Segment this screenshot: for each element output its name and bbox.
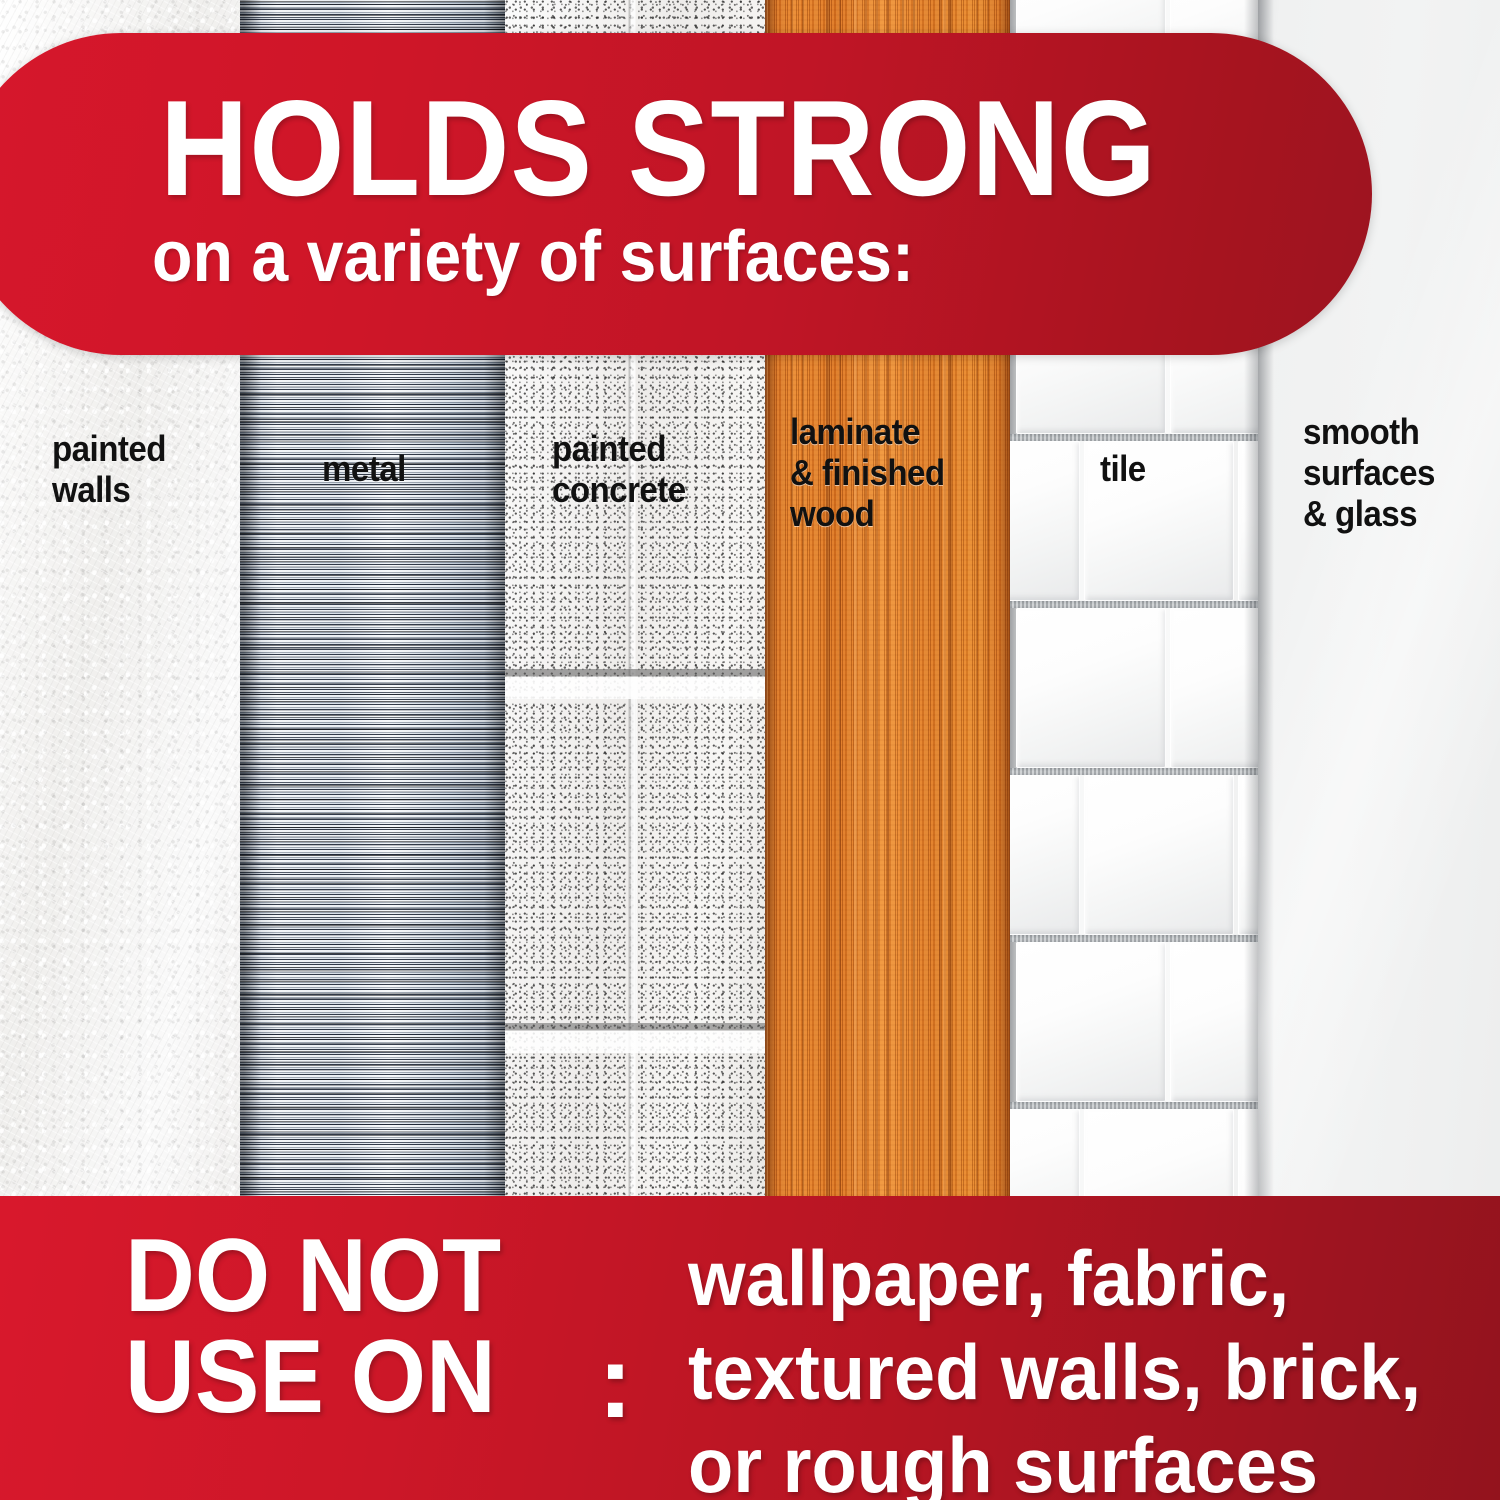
tile-piece [1016, 942, 1166, 1102]
surface-label-tile: tile [1100, 448, 1146, 489]
do-not-use-list: wallpaper, fabric, textured walls, brick… [688, 1232, 1421, 1500]
tile-piece [1084, 775, 1234, 935]
tile-grout-line [1010, 1102, 1258, 1109]
concrete-mortar-joint [630, 677, 637, 1025]
surface-label-laminate-wood: laminate & finished wood [790, 411, 945, 534]
banner-subtitle: on a variety of surfaces: [152, 221, 914, 293]
surface-label-painted-concrete: painted concrete [552, 428, 686, 510]
tile-grout-line [1010, 768, 1258, 775]
tile-grout-line [1010, 935, 1258, 942]
do-not-use-headline: DO NOT USE ON [125, 1226, 501, 1428]
tile-grout-line [1010, 434, 1258, 441]
product-infographic: HOLDS STRONG on a variety of surfaces: p… [0, 0, 1500, 1500]
surface-label-smooth-glass: smooth surfaces & glass [1303, 411, 1435, 534]
tile-piece [1016, 608, 1166, 768]
tile-piece [1010, 441, 1080, 601]
tile-grout-line [1010, 601, 1258, 608]
surface-label-painted-walls: painted walls [52, 428, 166, 510]
do-not-use-colon: : [598, 1330, 633, 1434]
tile-piece [1010, 775, 1080, 935]
surface-label-metal: metal [322, 448, 406, 489]
banner-title: HOLDS STRONG [160, 80, 1157, 216]
